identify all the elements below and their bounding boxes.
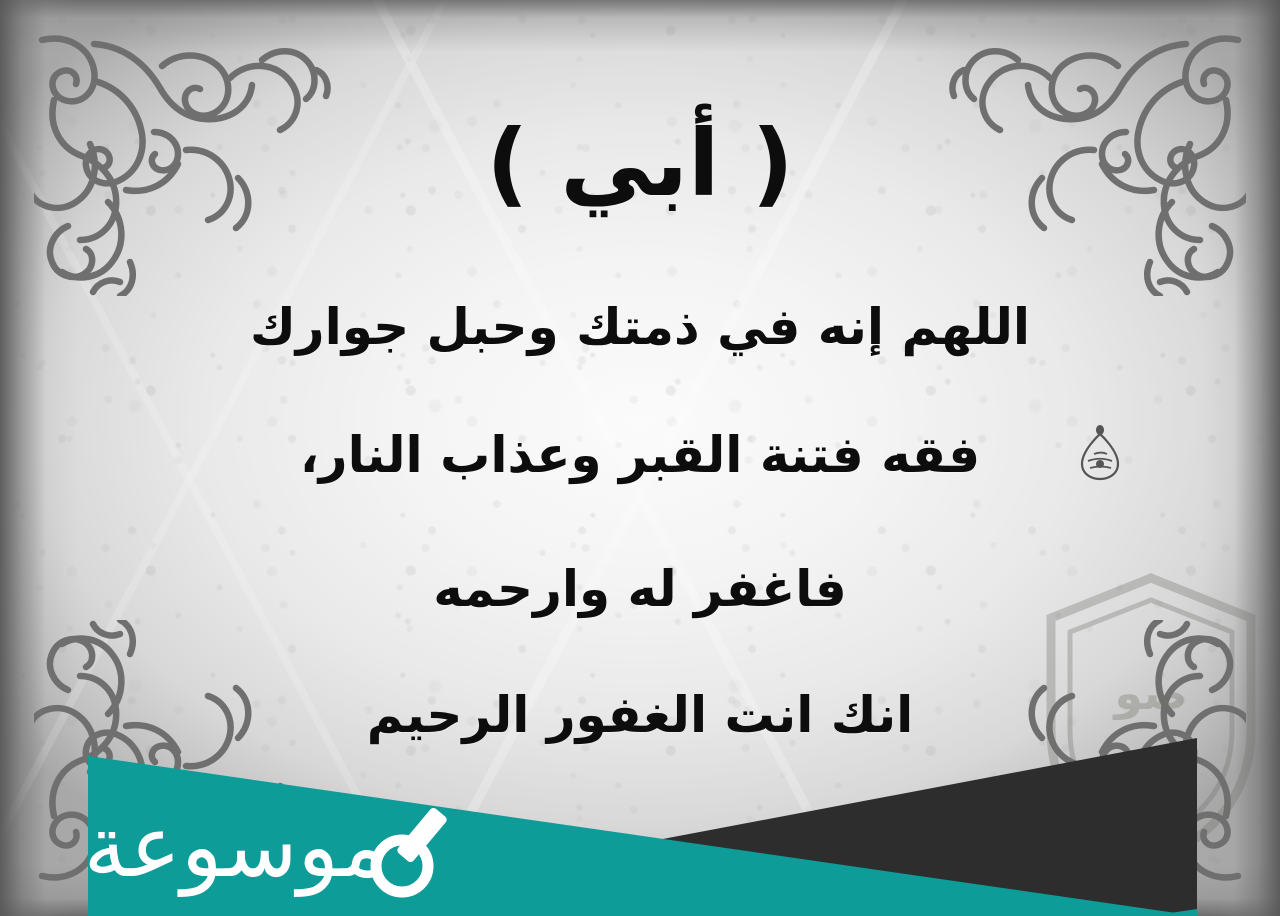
dua-line-1: اللهم إنه في ذمتك وحبل جوارك <box>0 300 1280 355</box>
dua-line-3: فاغفر له وارحمه <box>0 562 1280 617</box>
page-title: ( أبي ) <box>0 118 1280 210</box>
bottom-banner <box>0 716 1280 916</box>
calligraphic-teardrop-ornament <box>1078 423 1122 481</box>
dua-card: صو .com ( أبي ) اللهم إنه في ذمتك وحبل ج… <box>0 0 1280 916</box>
